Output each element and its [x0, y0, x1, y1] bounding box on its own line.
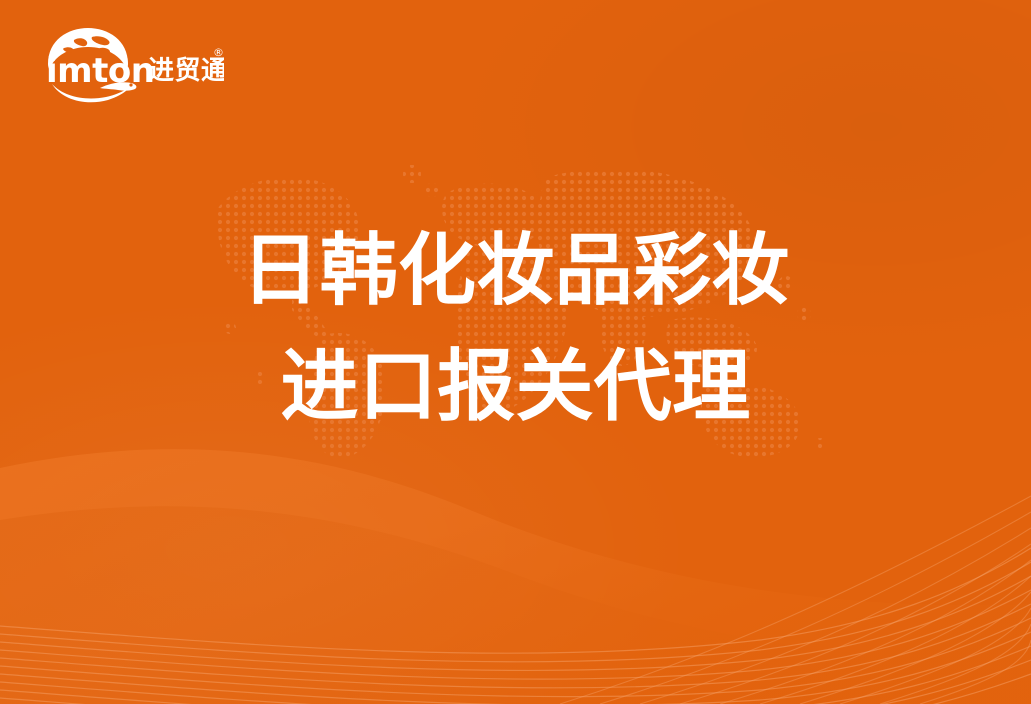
- brand-logo[interactable]: imton 进贸通 ®: [38, 26, 224, 104]
- page-title: 日韩化妆品彩妆 进口报关代理: [0, 232, 1031, 426]
- logo-chinese-name: 进贸通: [148, 56, 224, 86]
- brand-logo-svg: imton 进贸通 ®: [38, 26, 224, 104]
- registered-trademark-icon: ®: [213, 46, 224, 59]
- page-title-line-2: 进口报关代理: [0, 348, 1031, 426]
- poster-canvas: imton 进贸通 ® 日韩化妆品彩妆 进口报关代理: [0, 0, 1031, 704]
- page-title-line-1: 日韩化妆品彩妆: [0, 232, 1031, 310]
- logo-wordmark: imton: [46, 51, 154, 91]
